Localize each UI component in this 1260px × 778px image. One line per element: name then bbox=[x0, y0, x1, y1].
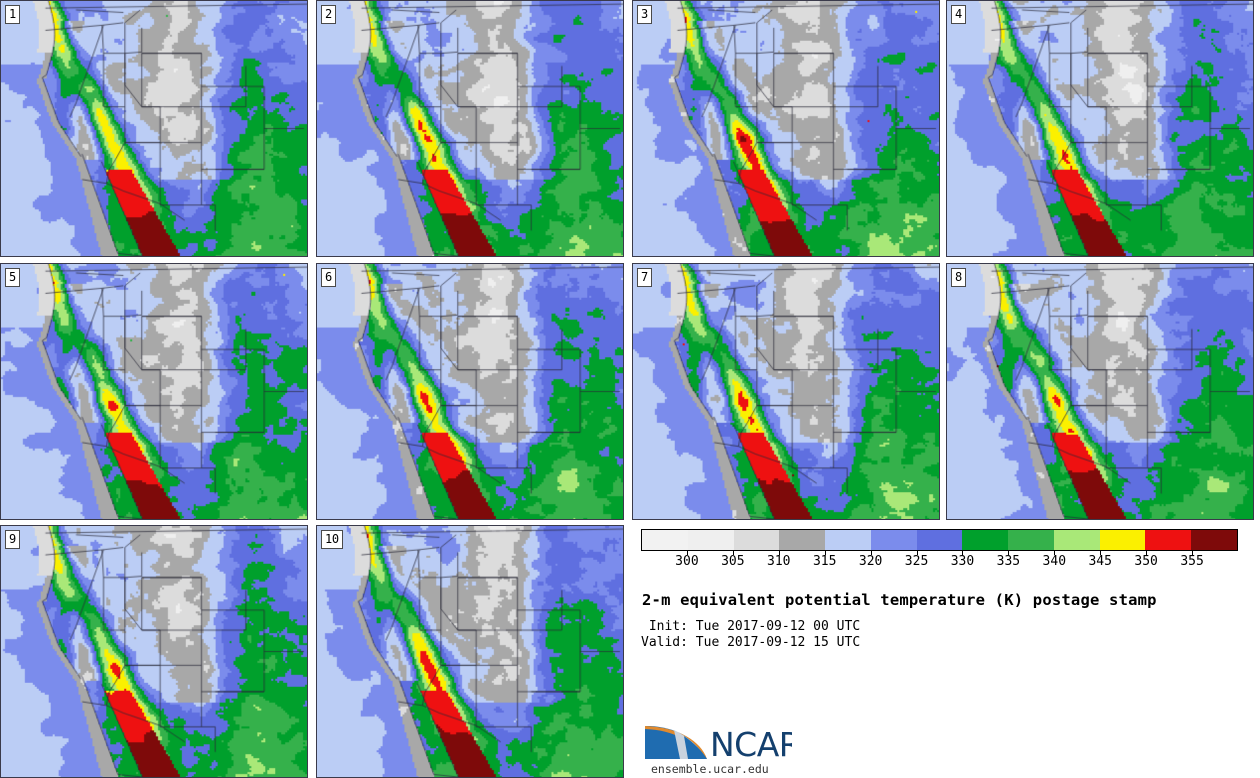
colorbar-band bbox=[734, 530, 780, 550]
member-number-label: 10 bbox=[321, 530, 343, 549]
ensemble-member-panel[interactable]: 4 bbox=[946, 0, 1254, 257]
colorbar-tick-label: 340 bbox=[1043, 554, 1066, 569]
ensemble-member-panel[interactable]: 5 bbox=[0, 263, 308, 520]
member-map bbox=[633, 264, 939, 519]
colorbar: 300305310315320325330335340345350355 bbox=[641, 529, 1238, 575]
member-number-label: 4 bbox=[951, 5, 966, 24]
member-number-label: 3 bbox=[637, 5, 652, 24]
member-map bbox=[317, 1, 623, 256]
member-number-label: 9 bbox=[5, 530, 20, 549]
member-number-label: 5 bbox=[5, 268, 20, 287]
colorbar-tick-label: 325 bbox=[905, 554, 928, 569]
colorbar-band bbox=[688, 530, 734, 550]
colorbar-tick-label: 300 bbox=[675, 554, 698, 569]
member-number-label: 7 bbox=[637, 268, 652, 287]
ensemble-member-panel[interactable]: 2 bbox=[316, 0, 624, 257]
colorbar-bands bbox=[641, 529, 1238, 551]
colorbar-tick-label: 315 bbox=[813, 554, 836, 569]
colorbar-tick-label: 355 bbox=[1180, 554, 1203, 569]
ensemble-member-panel[interactable]: 3 bbox=[632, 0, 940, 257]
member-map bbox=[1, 264, 307, 519]
ensemble-member-panel[interactable]: 8 bbox=[946, 263, 1254, 520]
member-map bbox=[947, 1, 1253, 256]
colorbar-band bbox=[917, 530, 963, 550]
member-map bbox=[633, 1, 939, 256]
colorbar-band bbox=[962, 530, 1008, 550]
figure-canvas: 12345678910 3003053103153203253303353403… bbox=[0, 0, 1260, 778]
ncar-url-label: ensemble.ucar.edu bbox=[651, 762, 769, 776]
member-map bbox=[1, 526, 307, 777]
ensemble-member-panel[interactable]: 10 bbox=[316, 525, 624, 778]
colorbar-band bbox=[1100, 530, 1146, 550]
colorbar-band bbox=[1008, 530, 1054, 550]
colorbar-band bbox=[871, 530, 917, 550]
colorbar-band bbox=[642, 530, 688, 550]
ensemble-member-panel[interactable]: 9 bbox=[0, 525, 308, 778]
member-number-label: 2 bbox=[321, 5, 336, 24]
member-number-label: 6 bbox=[321, 268, 336, 287]
colorbar-band bbox=[1145, 530, 1191, 550]
member-map bbox=[317, 526, 623, 777]
colorbar-tick-label: 330 bbox=[951, 554, 974, 569]
member-number-label: 8 bbox=[951, 268, 966, 287]
init-time-label: Init: Tue 2017-09-12 00 UTC bbox=[641, 619, 860, 634]
ncar-logo: NCAR bbox=[644, 718, 792, 762]
colorbar-ticks: 300305310315320325330335340345350355 bbox=[641, 551, 1238, 575]
colorbar-tick-label: 320 bbox=[859, 554, 882, 569]
valid-time-label: Valid: Tue 2017-09-12 15 UTC bbox=[641, 635, 860, 650]
colorbar-band bbox=[825, 530, 871, 550]
colorbar-tick-label: 305 bbox=[721, 554, 744, 569]
colorbar-band bbox=[1054, 530, 1100, 550]
member-number-label: 1 bbox=[5, 5, 20, 24]
colorbar-tick-label: 345 bbox=[1088, 554, 1111, 569]
ensemble-member-panel[interactable]: 6 bbox=[316, 263, 624, 520]
member-map bbox=[1, 1, 307, 256]
member-map bbox=[317, 264, 623, 519]
ensemble-member-panel[interactable]: 1 bbox=[0, 0, 308, 257]
ncar-swoosh-icon bbox=[645, 726, 707, 759]
colorbar-tick-label: 335 bbox=[997, 554, 1020, 569]
colorbar-band bbox=[1191, 530, 1237, 550]
member-map bbox=[947, 264, 1253, 519]
colorbar-band bbox=[779, 530, 825, 550]
ncar-logo-text: NCAR bbox=[710, 725, 792, 762]
colorbar-tick-label: 310 bbox=[767, 554, 790, 569]
ensemble-member-panel[interactable]: 7 bbox=[632, 263, 940, 520]
page-title: 2-m equivalent potential temperature (K)… bbox=[642, 591, 1157, 609]
colorbar-tick-label: 350 bbox=[1134, 554, 1157, 569]
